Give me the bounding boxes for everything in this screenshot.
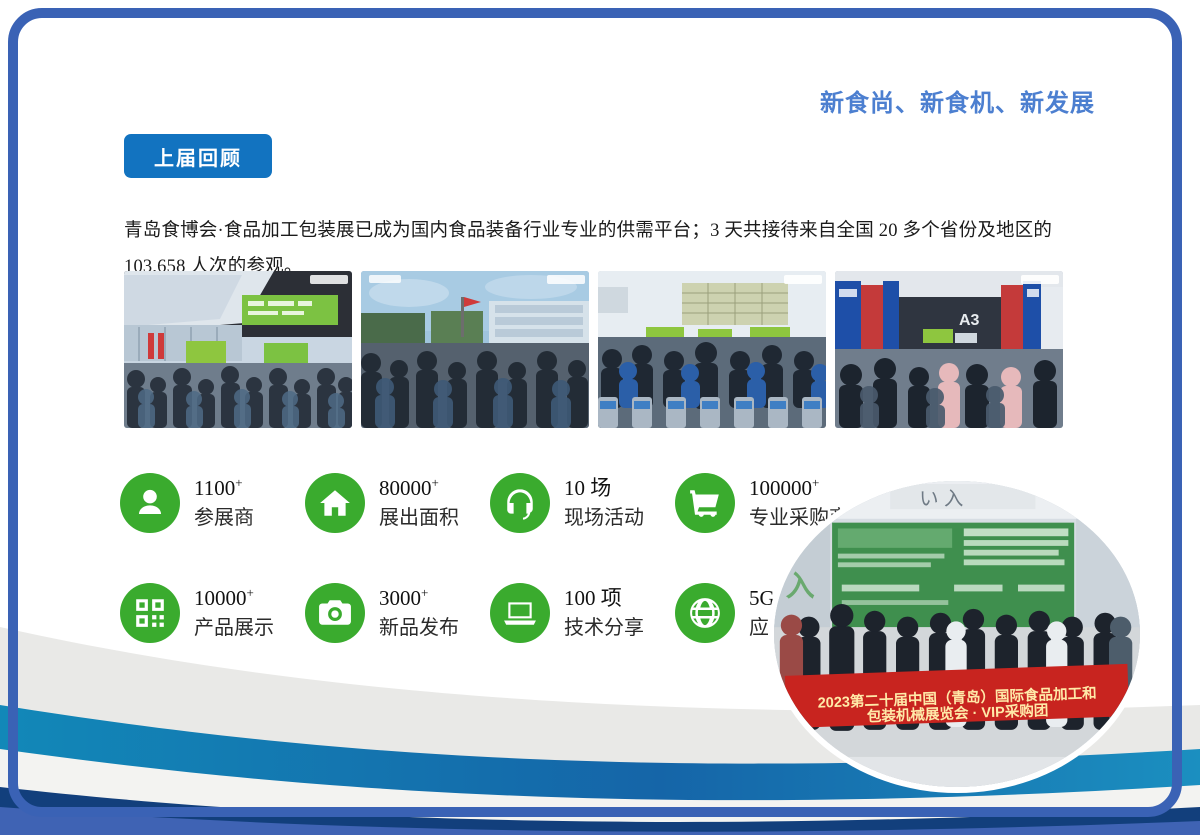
- photo-entrance-crowd: [124, 271, 352, 428]
- stat-text: 1100+ 参展商: [194, 475, 254, 531]
- stat-value: 3000+: [379, 585, 459, 613]
- user-icon: [120, 473, 180, 533]
- section-badge-label: 上届回顾: [154, 142, 242, 171]
- stat-label: 产品展示: [194, 615, 274, 641]
- stat-text: 100 项 技术分享: [564, 585, 644, 641]
- stat-product-display: 10000+ 产品展示: [120, 558, 305, 668]
- stat-onsite-events: 10 场 现场活动: [490, 448, 675, 558]
- photo-outdoor-queue: [361, 271, 589, 428]
- turnstile-entry-icon: [598, 271, 826, 428]
- cart-icon: [675, 473, 735, 533]
- stat-label: 参展商: [194, 505, 254, 531]
- qrcode-icon: [120, 583, 180, 643]
- stat-label: 现场活动: [564, 505, 644, 531]
- camera-icon: [305, 583, 365, 643]
- exhibition-hall-aisle-icon: A3: [835, 271, 1063, 428]
- stat-value: 1100+: [194, 475, 254, 503]
- entrance-crowd-icon: [124, 271, 352, 428]
- stat-value: 100 项: [564, 585, 644, 613]
- stat-text: 10000+ 产品展示: [194, 585, 274, 641]
- stats-grid: 1100+ 参展商 80000+ 展出面积 10 场: [120, 448, 860, 668]
- svg-text:い 入: い 入: [919, 488, 963, 510]
- outdoor-queue-icon: [361, 271, 589, 428]
- stats-row-2: 10000+ 产品展示 3000+ 新品发布 100 项: [120, 558, 860, 668]
- svg-text:入: 入: [786, 571, 815, 603]
- headset-icon: [490, 473, 550, 533]
- vip-buyer-group-icon: い 入 入: [774, 481, 1140, 787]
- stat-value: 100000+: [749, 475, 849, 503]
- photo-turnstile-entry: [598, 271, 826, 428]
- circle-photo-vip-group: い 入 入: [768, 475, 1146, 793]
- stat-text: 80000+ 展出面积: [379, 475, 459, 531]
- photo-strip: A3: [124, 271, 1087, 428]
- wave-navy-band: [0, 787, 1200, 835]
- stat-exhibitors: 1100+ 参展商: [120, 448, 305, 558]
- photo-exhibition-hall-aisle: A3: [835, 271, 1063, 428]
- stat-value: 10 场: [564, 475, 644, 503]
- stat-text: 3000+ 新品发布: [379, 585, 459, 641]
- stat-value: 10000+: [194, 585, 274, 613]
- stat-exhibition-area: 80000+ 展出面积: [305, 448, 490, 558]
- stat-label: 新品发布: [379, 615, 459, 641]
- stat-new-product-launch: 3000+ 新品发布: [305, 558, 490, 668]
- stats-row-1: 1100+ 参展商 80000+ 展出面积 10 场: [120, 448, 860, 558]
- laptop-icon: [490, 583, 550, 643]
- stat-label: 技术分享: [564, 615, 644, 641]
- stat-value: 80000+: [379, 475, 459, 503]
- stat-text: 10 场 现场活动: [564, 475, 644, 531]
- poster-page: 新食尚、新食机、新发展 上届回顾 青岛食博会·食品加工包装展已成为国内食品装备行…: [0, 0, 1200, 835]
- stat-tech-sharing: 100 项 技术分享: [490, 558, 675, 668]
- stat-label: 展出面积: [379, 505, 459, 531]
- svg-text:A3: A3: [959, 312, 980, 329]
- home-icon: [305, 473, 365, 533]
- page-slogan: 新食尚、新食机、新发展: [820, 83, 1095, 118]
- wave-indigo-base: [0, 807, 1200, 835]
- globe-icon: [675, 583, 735, 643]
- section-badge: 上届回顾: [124, 134, 272, 178]
